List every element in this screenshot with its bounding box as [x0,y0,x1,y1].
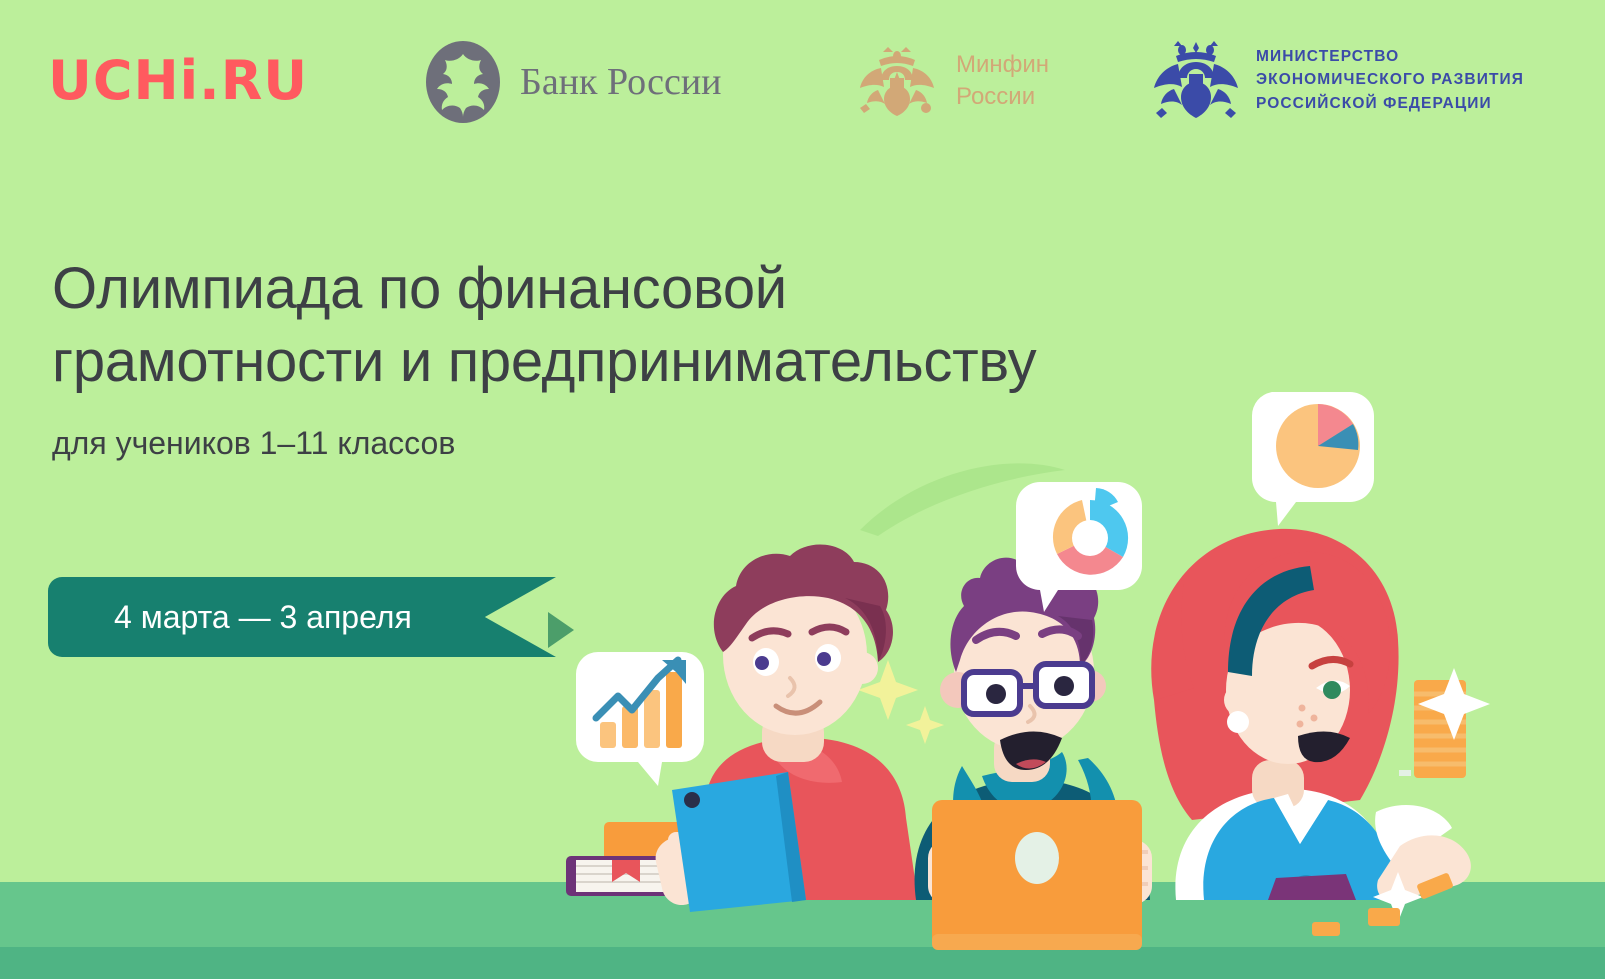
minfin-label: Минфин России [956,49,1049,114]
page-title: Олимпиада по финансовой грамотности и пр… [52,252,1292,398]
date-ribbon-label: 4 марта — 3 апреля [48,599,412,636]
mineconomic-label: МИНИСТЕРСТВО ЭКОНОМИЧЕСКОГО РАЗВИТИЯ РОС… [1256,45,1524,116]
mineconomic-label-line3: РОССИЙСКОЙ ФЕДЕРАЦИИ [1256,92,1524,116]
partner-logo-bar: UCHi.RU Банк России [0,0,1605,160]
bank-of-russia-logo[interactable]: Банк России [424,40,722,124]
minfin-label-line1: Минфин [956,49,1049,81]
desk-surface [0,882,1605,947]
mineconomic-label-line1: МИНИСТЕРСТВО [1256,45,1524,69]
minfin-label-line2: России [956,81,1049,113]
pie-chart-bubble [1252,392,1374,526]
mineconomic-label-line2: ЭКОНОМИЧЕСКОГО РАЗВИТИЯ [1256,68,1524,92]
donut-chart-bubble [1016,482,1142,612]
bank-of-russia-eagle-icon [424,40,502,124]
promo-banner: UCHi.RU Банк России [0,0,1605,979]
uchi-ru-logo[interactable]: UCHi.RU [48,54,308,108]
page-title-line2: грамотности и предпринимательству [52,325,1292,398]
bank-of-russia-label: Банк России [520,60,722,104]
minfin-logo[interactable]: Минфин России [852,36,1049,126]
date-ribbon: 4 марта — 3 апреля [48,577,556,657]
desk-edge [0,947,1605,979]
page-subtitle: для учеников 1–11 классов [52,425,455,462]
mineconomic-eagle-icon [1152,34,1240,126]
minfin-eagle-icon [852,36,942,126]
bar-chart-bubble [576,652,704,786]
page-title-line1: Олимпиада по финансовой [52,256,787,321]
mineconomic-development-logo[interactable]: МИНИСТЕРСТВО ЭКОНОМИЧЕСКОГО РАЗВИТИЯ РОС… [1152,34,1524,126]
